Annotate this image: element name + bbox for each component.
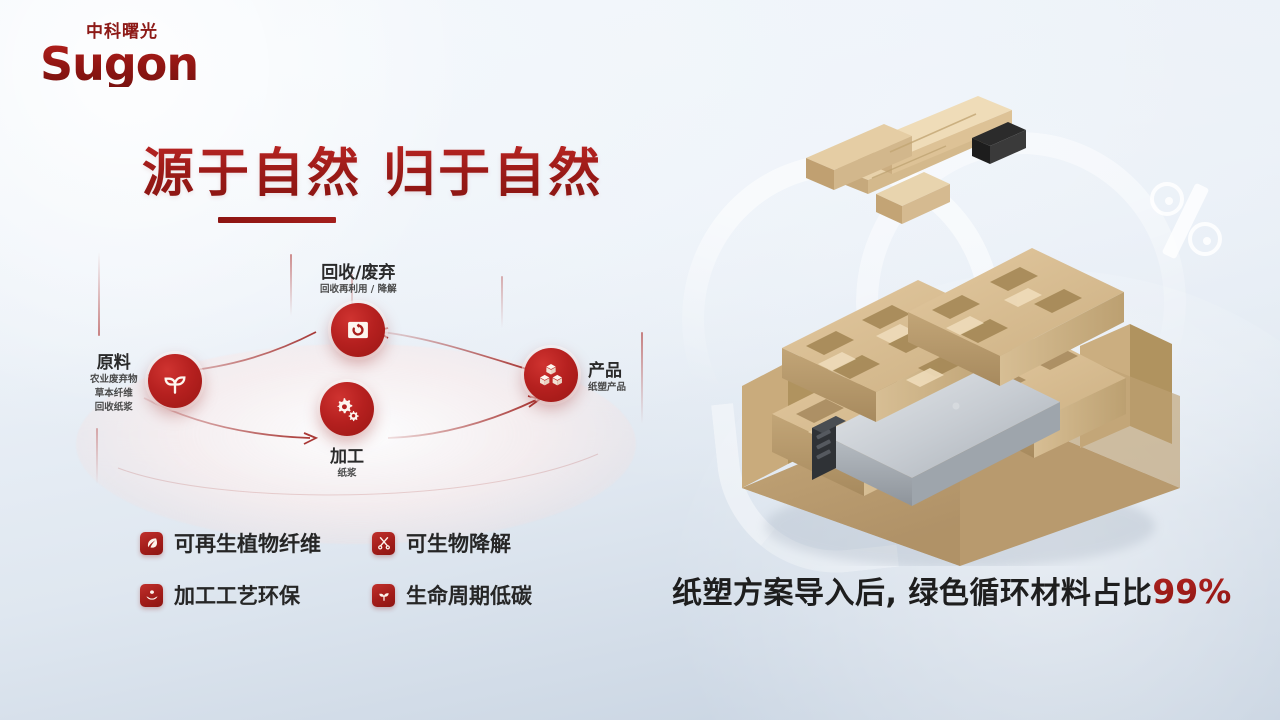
feature-label: 生命周期低碳 [406,580,532,610]
feature-item[interactable]: 生命周期低碳 [372,580,604,610]
caption-highlight-value: 99% [1152,572,1231,611]
page-title: 源于自然 归于自然 [142,146,603,223]
cycle-node-sublabel: 纸浆 [320,467,374,481]
packaging-top-bars [806,96,1026,224]
cycle-node-label: 原料 [90,348,138,373]
cycle-node-processing[interactable]: 加工 纸浆 [320,382,374,481]
lifecycle-diagram: 原料 农业废弃物草本纤维回收纸浆 回收/废弃 回收再利用 / 降解 [58,258,678,508]
recycle-box-icon [331,303,385,357]
scissors-leaf-icon [372,532,395,555]
packaging-illustration [660,96,1260,566]
title-underline [218,217,336,223]
sprout-leaf-icon [372,584,395,607]
logo-english-name: Sugon [40,43,240,87]
gears-icon [320,382,374,436]
exploded-packaging-render [660,96,1260,566]
cycle-node-sublabel: 农业废弃物草本纤维回收纸浆 [90,373,138,414]
cubes-icon [524,348,578,402]
cycle-node-product[interactable]: 产品 纸塑产品 [524,348,626,402]
feature-list: 可再生植物纤维 可生物降解 加工工艺环保 生命周期低碳 [140,528,604,610]
feature-item[interactable]: 加工工艺环保 [140,580,372,610]
cycle-node-label: 加工 [320,442,374,467]
cycle-node-label: 回收/废弃 [320,258,397,283]
sprout-icon [148,354,202,408]
page-title-text: 源于自然 归于自然 [142,146,603,203]
feature-label: 可生物降解 [406,528,511,558]
slide-canvas: 中科曙光 Sugon 源于自然 归于自然 [0,0,1280,720]
feature-label: 加工工艺环保 [174,580,300,610]
cycle-node-recycle[interactable]: 回收/废弃 回收再利用 / 降解 [320,258,397,357]
cycle-node-sublabel: 纸塑产品 [588,381,626,395]
sugon-logo: 中科曙光 Sugon [40,24,240,87]
leaf-icon [140,532,163,555]
caption-main-text: 纸塑方案导入后, 绿色循环材料占比 [672,568,1152,612]
feature-label: 可再生植物纤维 [174,528,321,558]
summary-caption: 纸塑方案导入后, 绿色循环材料占比 99% [672,568,1231,612]
cycle-node-raw-material[interactable]: 原料 农业废弃物草本纤维回收纸浆 [90,348,202,414]
cycle-node-label: 产品 [588,356,626,381]
feature-item[interactable]: 可再生植物纤维 [140,528,372,558]
feature-item[interactable]: 可生物降解 [372,528,604,558]
cycle-node-sublabel: 回收再利用 / 降解 [320,283,397,297]
eco-hands-icon [140,584,163,607]
